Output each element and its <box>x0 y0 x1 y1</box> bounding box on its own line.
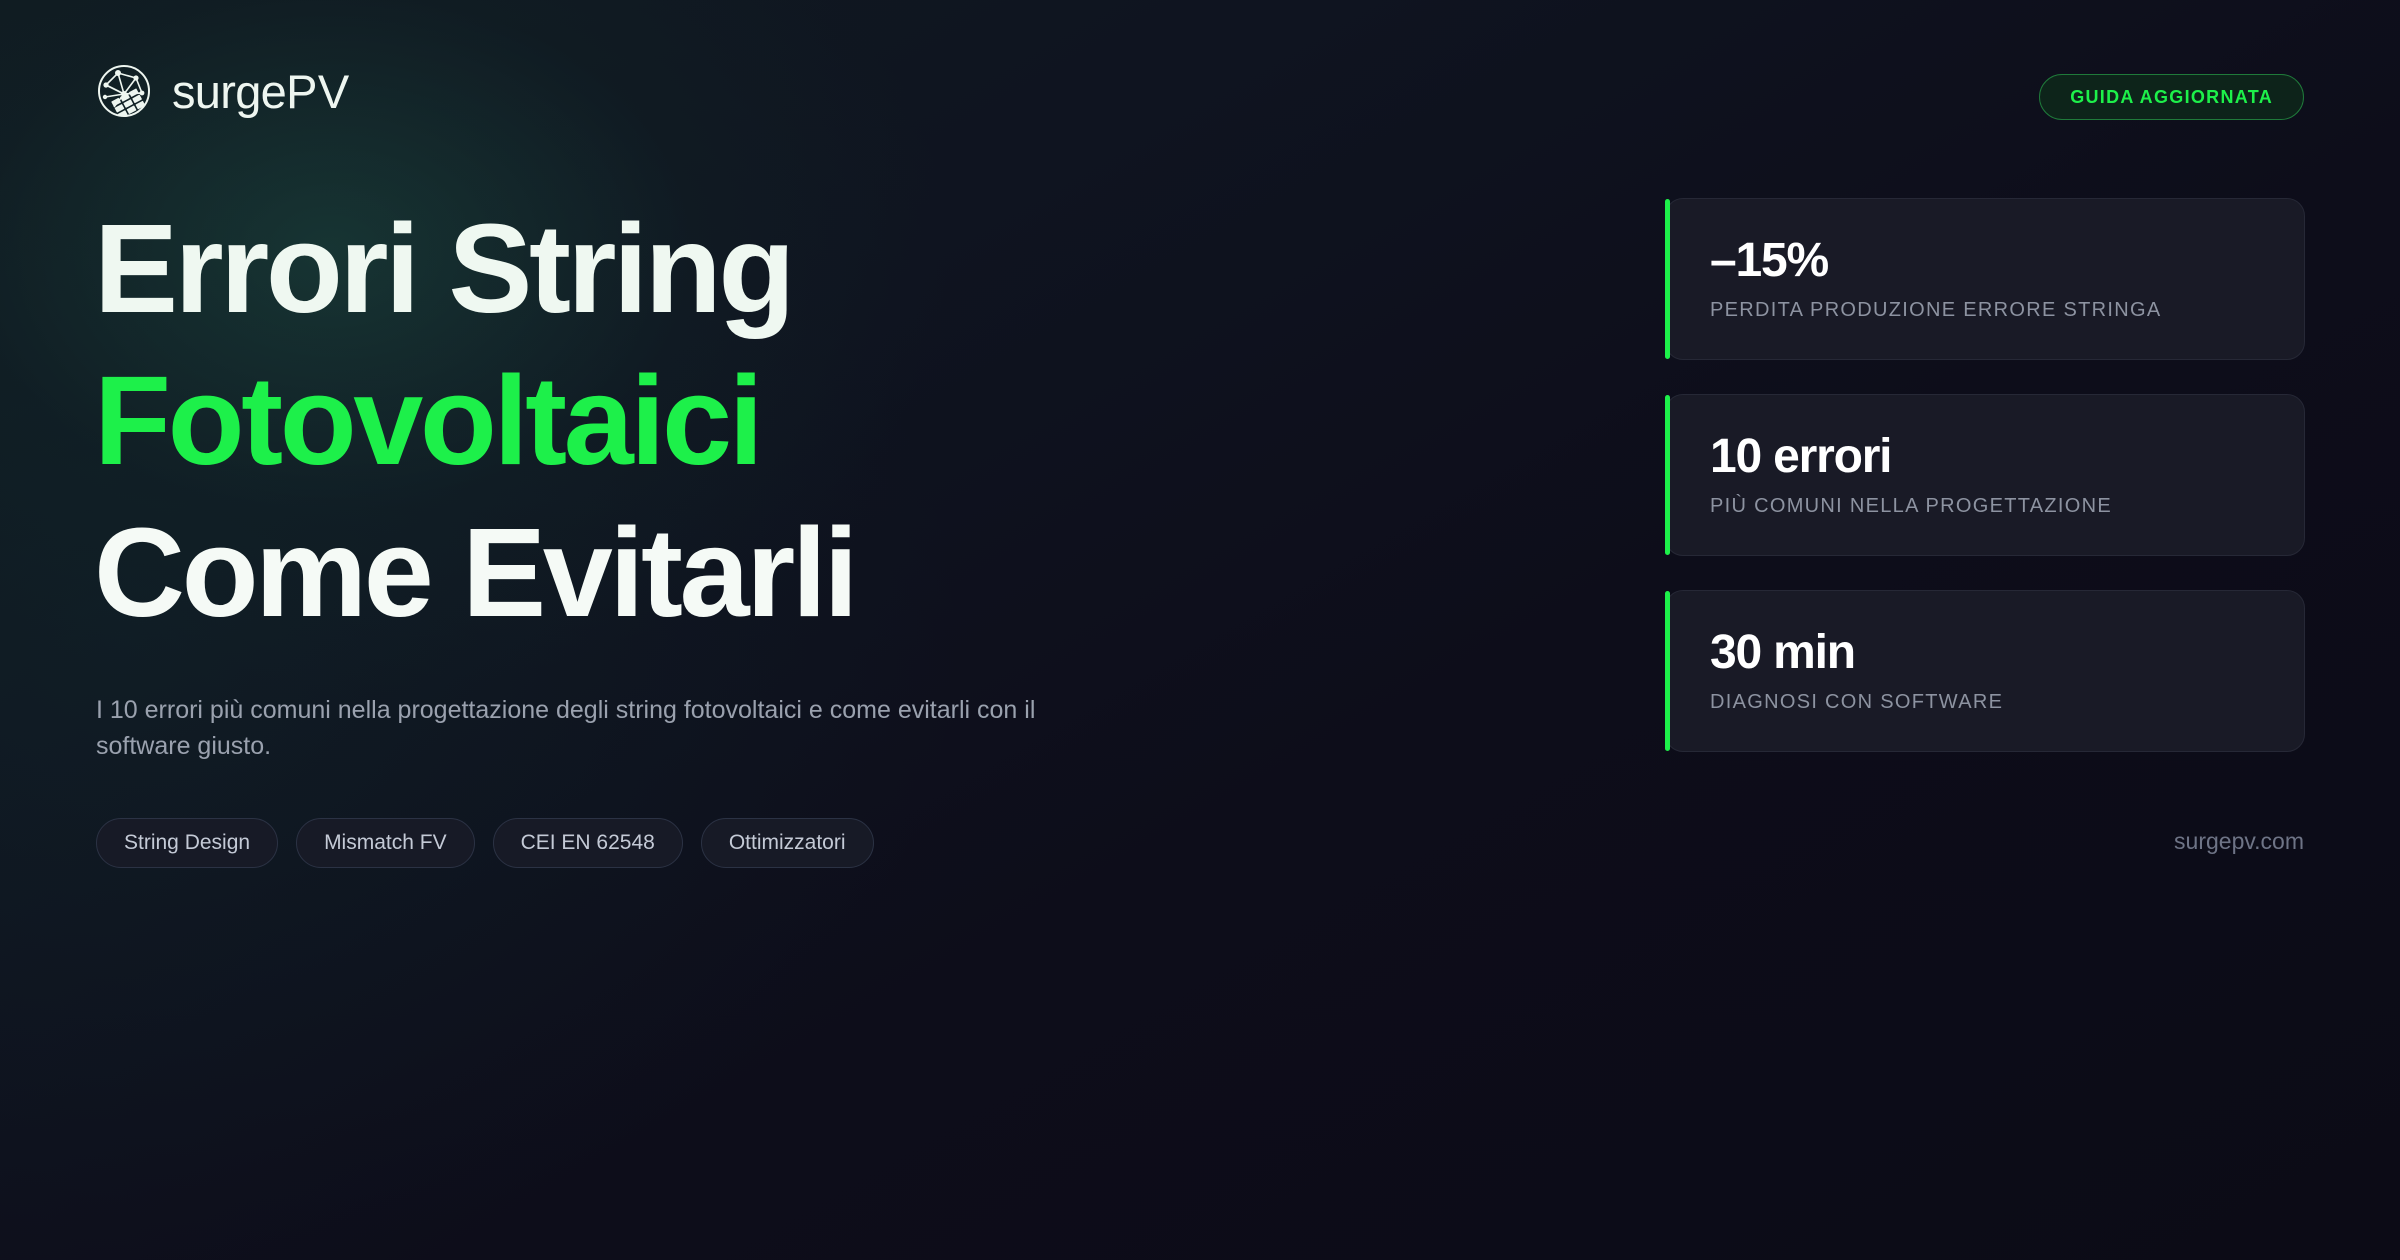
headline-line-1: Errori String <box>94 206 855 332</box>
stat-value: 10 errori <box>1710 432 2304 482</box>
brand-logo[interactable]: surgePV <box>96 63 350 119</box>
hero-subtitle: I 10 errori più comuni nella progettazio… <box>96 693 1056 764</box>
stat-card-list: –15% PERDITA PRODUZIONE ERRORE STRINGA 1… <box>1665 198 2305 752</box>
headline-line-3: Come Evitarli <box>94 510 855 636</box>
tag-pill[interactable]: Mismatch FV <box>296 818 475 868</box>
stat-card: 30 min DIAGNOSI CON SOFTWARE <box>1665 590 2305 752</box>
pv-globe-network-icon <box>96 63 152 119</box>
stat-label: PERDITA PRODUZIONE ERRORE STRINGA <box>1710 299 2304 322</box>
stat-label: PIÙ COMUNI NELLA PROGETTAZIONE <box>1710 495 2304 518</box>
stat-card: 10 errori PIÙ COMUNI NELLA PROGETTAZIONE <box>1665 394 2305 556</box>
tag-pill[interactable]: CEI EN 62548 <box>493 818 683 868</box>
stat-label: DIAGNOSI CON SOFTWARE <box>1710 691 2304 714</box>
status-badge[interactable]: GUIDA AGGIORNATA <box>2039 74 2304 120</box>
stat-value: 30 min <box>1710 628 2304 678</box>
brand-wordmark: surgePV <box>172 68 350 115</box>
brand-name-suffix: PV <box>286 65 350 118</box>
headline-line-2: Fotovoltaici <box>94 358 855 484</box>
stat-card: –15% PERDITA PRODUZIONE ERRORE STRINGA <box>1665 198 2305 360</box>
hero-slide: surgePV GUIDA AGGIORNATA Errori String F… <box>0 0 2400 1260</box>
tag-pill[interactable]: Ottimizzatori <box>701 818 874 868</box>
tag-list: String Design Mismatch FV CEI EN 62548 O… <box>96 818 874 868</box>
site-url: surgepv.com <box>2174 828 2304 855</box>
stat-value: –15% <box>1710 236 2304 286</box>
tag-pill[interactable]: String Design <box>96 818 278 868</box>
brand-name-primary: surge <box>172 65 286 118</box>
page-title: Errori String Fotovoltaici Come Evitarli <box>94 206 855 636</box>
